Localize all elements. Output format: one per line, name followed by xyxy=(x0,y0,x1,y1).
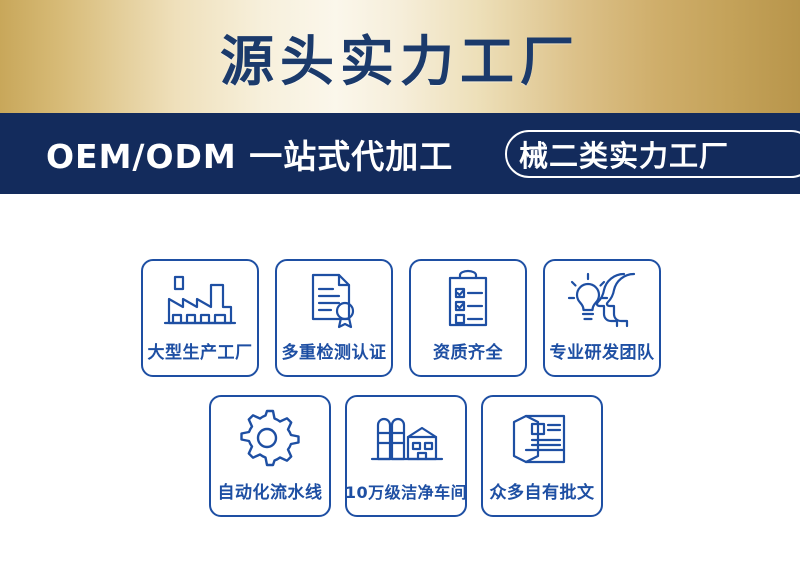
feature-card-label: 多重检测认证 xyxy=(282,338,387,375)
navy-headline: OEM/ODM 一站式代加工 xyxy=(46,113,453,194)
documents-icon xyxy=(483,397,601,478)
clipboard-checklist-icon xyxy=(411,261,525,338)
feature-card-qualifications[interactable]: 资质齐全 xyxy=(409,259,527,377)
feature-card-automation-line[interactable]: 自动化流水线 xyxy=(209,395,331,517)
feature-card-label: 资质齐全 xyxy=(433,338,503,375)
cleanroom-silo-icon xyxy=(347,397,465,479)
feature-card-label: 专业研发团队 xyxy=(550,338,655,375)
feature-card-factory[interactable]: 大型生产工厂 xyxy=(141,259,259,377)
feature-card-label: 自动化流水线 xyxy=(218,478,323,515)
feature-card-label: 大型生产工厂 xyxy=(148,338,253,375)
feature-card-certification[interactable]: 多重检测认证 xyxy=(275,259,393,377)
factory-icon xyxy=(143,261,257,338)
certificate-icon xyxy=(277,261,391,338)
gear-icon xyxy=(211,397,329,478)
page-title: 源头实力工厂 xyxy=(0,0,800,113)
gold-banner: 源头实力工厂 xyxy=(0,0,800,113)
feature-card-rnd-team[interactable]: 专业研发团队 xyxy=(543,259,661,377)
navy-pill-badge: 械二类实力工厂 xyxy=(505,130,800,178)
feature-card-label: 众多自有批文 xyxy=(490,478,595,515)
feature-card-cleanroom[interactable]: 10万级洁净车间 xyxy=(345,395,467,517)
feature-cards-area: 大型生产工厂 多重检测认证 xyxy=(0,194,800,561)
feature-card-approvals[interactable]: 众多自有批文 xyxy=(481,395,603,517)
lightbulb-head-icon xyxy=(545,261,659,338)
feature-card-label: 10万级洁净车间 xyxy=(345,479,467,515)
promo-banner-page: 源头实力工厂 OEM/ODM 一站式代加工 械二类实力工厂 大型生产工厂 xyxy=(0,0,800,561)
